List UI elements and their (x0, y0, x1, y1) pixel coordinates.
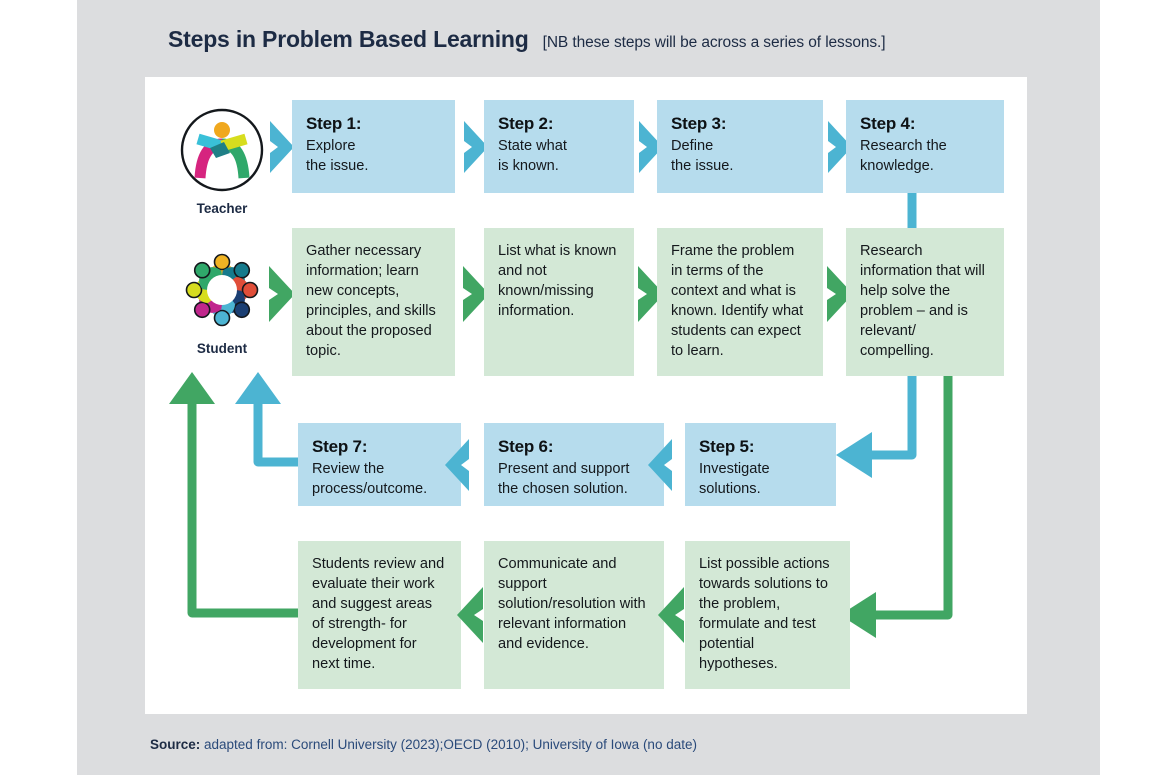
chevron-left-icon-3 (455, 585, 485, 645)
header-note: [NB these steps will be across a series … (543, 34, 886, 52)
student-step-6-body: Communicate and support solution/resolut… (498, 554, 650, 654)
teacher-persona: Teacher (180, 108, 264, 216)
step-5-box[interactable]: Step 5: Investigate solutions. (685, 423, 836, 506)
step-2-body: State what is known. (498, 136, 620, 176)
student-step-2-box[interactable]: List what is known and not known/missing… (484, 228, 634, 376)
step-5-title: Step 5: (699, 436, 822, 458)
chevron-left-icon-1 (443, 437, 471, 493)
step-1-box[interactable]: Step 1: Explore the issue. (292, 100, 455, 193)
step-5-body: Investigate solutions. (699, 459, 822, 499)
student-step-4-box[interactable]: Research information that will help solv… (846, 228, 1004, 376)
student-step-7-box[interactable]: Students review and evaluate their work … (298, 541, 461, 689)
student-step-1-body: Gather necessary information; learn new … (306, 241, 441, 361)
student-step-5-box[interactable]: List possible actions towards solutions … (685, 541, 850, 689)
student-persona: Student (180, 248, 264, 356)
student-step-5-body: List possible actions towards solutions … (699, 554, 836, 674)
step-6-title: Step 6: (498, 436, 650, 458)
source-footer: Source: adapted from: Cornell University… (150, 737, 697, 752)
step-2-title: Step 2: (498, 113, 620, 135)
diagram-root: Steps in Problem Based Learning [NB thes… (0, 0, 1160, 775)
step-7-title: Step 7: (312, 436, 447, 458)
step-4-title: Step 4: (860, 113, 990, 135)
source-label: Source: (150, 737, 200, 752)
source-text: adapted from: Cornell University (2023);… (200, 737, 697, 752)
step-3-box[interactable]: Step 3: Define the issue. (657, 100, 823, 193)
header: Steps in Problem Based Learning [NB thes… (168, 26, 885, 53)
step-6-body: Present and support the chosen solution. (498, 459, 650, 499)
student-step-2-body: List what is known and not known/missing… (498, 241, 620, 321)
step-1-title: Step 1: (306, 113, 441, 135)
step-2-box[interactable]: Step 2: State what is known. (484, 100, 634, 193)
chevron-left-icon-4 (656, 585, 686, 645)
student-step-7-body: Students review and evaluate their work … (312, 554, 447, 674)
step-3-body: Define the issue. (671, 136, 809, 176)
student-step-4-body: Research information that will help solv… (860, 241, 990, 361)
step-4-body: Research the knowledge. (860, 136, 990, 176)
chevron-left-icon-2 (646, 437, 674, 493)
step-7-box[interactable]: Step 7: Review the process/outcome. (298, 423, 461, 506)
step-4-box[interactable]: Step 4: Research the knowledge. (846, 100, 1004, 193)
student-step-1-box[interactable]: Gather necessary information; learn new … (292, 228, 455, 376)
step-6-box[interactable]: Step 6: Present and support the chosen s… (484, 423, 664, 506)
teacher-label: Teacher (180, 201, 264, 216)
step-7-body: Review the process/outcome. (312, 459, 447, 499)
student-step-3-body: Frame the problem in terms of the contex… (671, 241, 809, 361)
teacher-icon (180, 108, 264, 192)
student-step-6-box[interactable]: Communicate and support solution/resolut… (484, 541, 664, 689)
page-title: Steps in Problem Based Learning (168, 26, 529, 53)
student-icon (180, 248, 264, 332)
step-3-title: Step 3: (671, 113, 809, 135)
student-label: Student (180, 341, 264, 356)
step-1-body: Explore the issue. (306, 136, 441, 176)
student-step-3-box[interactable]: Frame the problem in terms of the contex… (657, 228, 823, 376)
